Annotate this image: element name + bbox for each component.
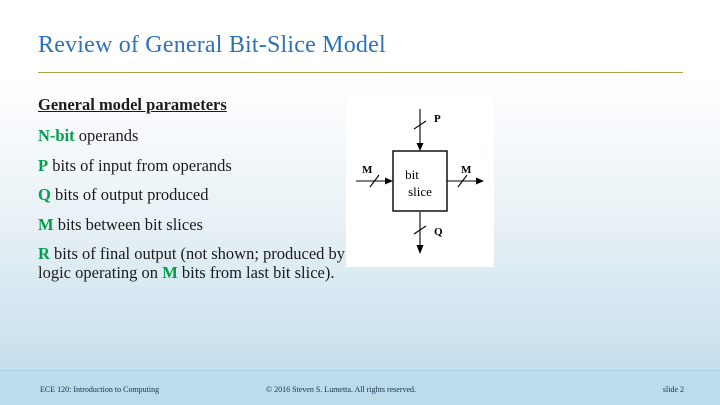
param-text-n: operands: [75, 126, 139, 145]
param-symbol-r: R: [38, 244, 50, 263]
bit-slice-diagram: bit slice P Q M M: [346, 95, 494, 267]
title-divider: [38, 72, 683, 73]
body-text-block: General model parameters N-bit operands …: [38, 96, 348, 293]
figure-label-p: P: [434, 113, 441, 125]
figure-box-label-line1: bit: [405, 167, 419, 182]
body-line-p: P bits of input from operands: [38, 157, 348, 175]
footer-course-label: ECE 120: Introduction to Computing: [40, 385, 159, 394]
body-line-m: M bits between bit slices: [38, 216, 348, 234]
param-text-q: bits of output produced: [51, 185, 209, 204]
param-text-r-suffix: bits from last bit slice).: [178, 263, 335, 282]
param-symbol-q: Q: [38, 185, 51, 204]
footer-slide-number: slide 2: [663, 385, 684, 394]
figure-label-m-left: M: [362, 164, 373, 176]
slide: Review of General Bit-Slice Model Genera…: [0, 0, 720, 405]
param-text-r: bits of final output (not shown; produce…: [50, 244, 391, 263]
page-title: Review of General Bit-Slice Model: [38, 32, 386, 59]
figure-box-label-line2: slice: [408, 184, 432, 199]
param-symbol-m-2: M: [162, 263, 178, 282]
figure-label-m-right: M: [461, 164, 472, 176]
body-line-n: N-bit operands: [38, 127, 348, 145]
body-heading: General model parameters: [38, 96, 348, 114]
param-text-r-prefix: logic operating on: [38, 263, 162, 282]
param-text-p: bits of input from operands: [48, 156, 232, 175]
param-symbol-m: M: [38, 215, 54, 234]
footer-copyright: © 2016 Steven S. Lumetta. All rights res…: [266, 385, 416, 394]
body-line-q: Q bits of output produced: [38, 186, 348, 204]
param-text-m: bits between bit slices: [54, 215, 203, 234]
param-symbol-n: N-bit: [38, 126, 75, 145]
figure-label-q: Q: [434, 226, 443, 238]
param-symbol-p: P: [38, 156, 48, 175]
